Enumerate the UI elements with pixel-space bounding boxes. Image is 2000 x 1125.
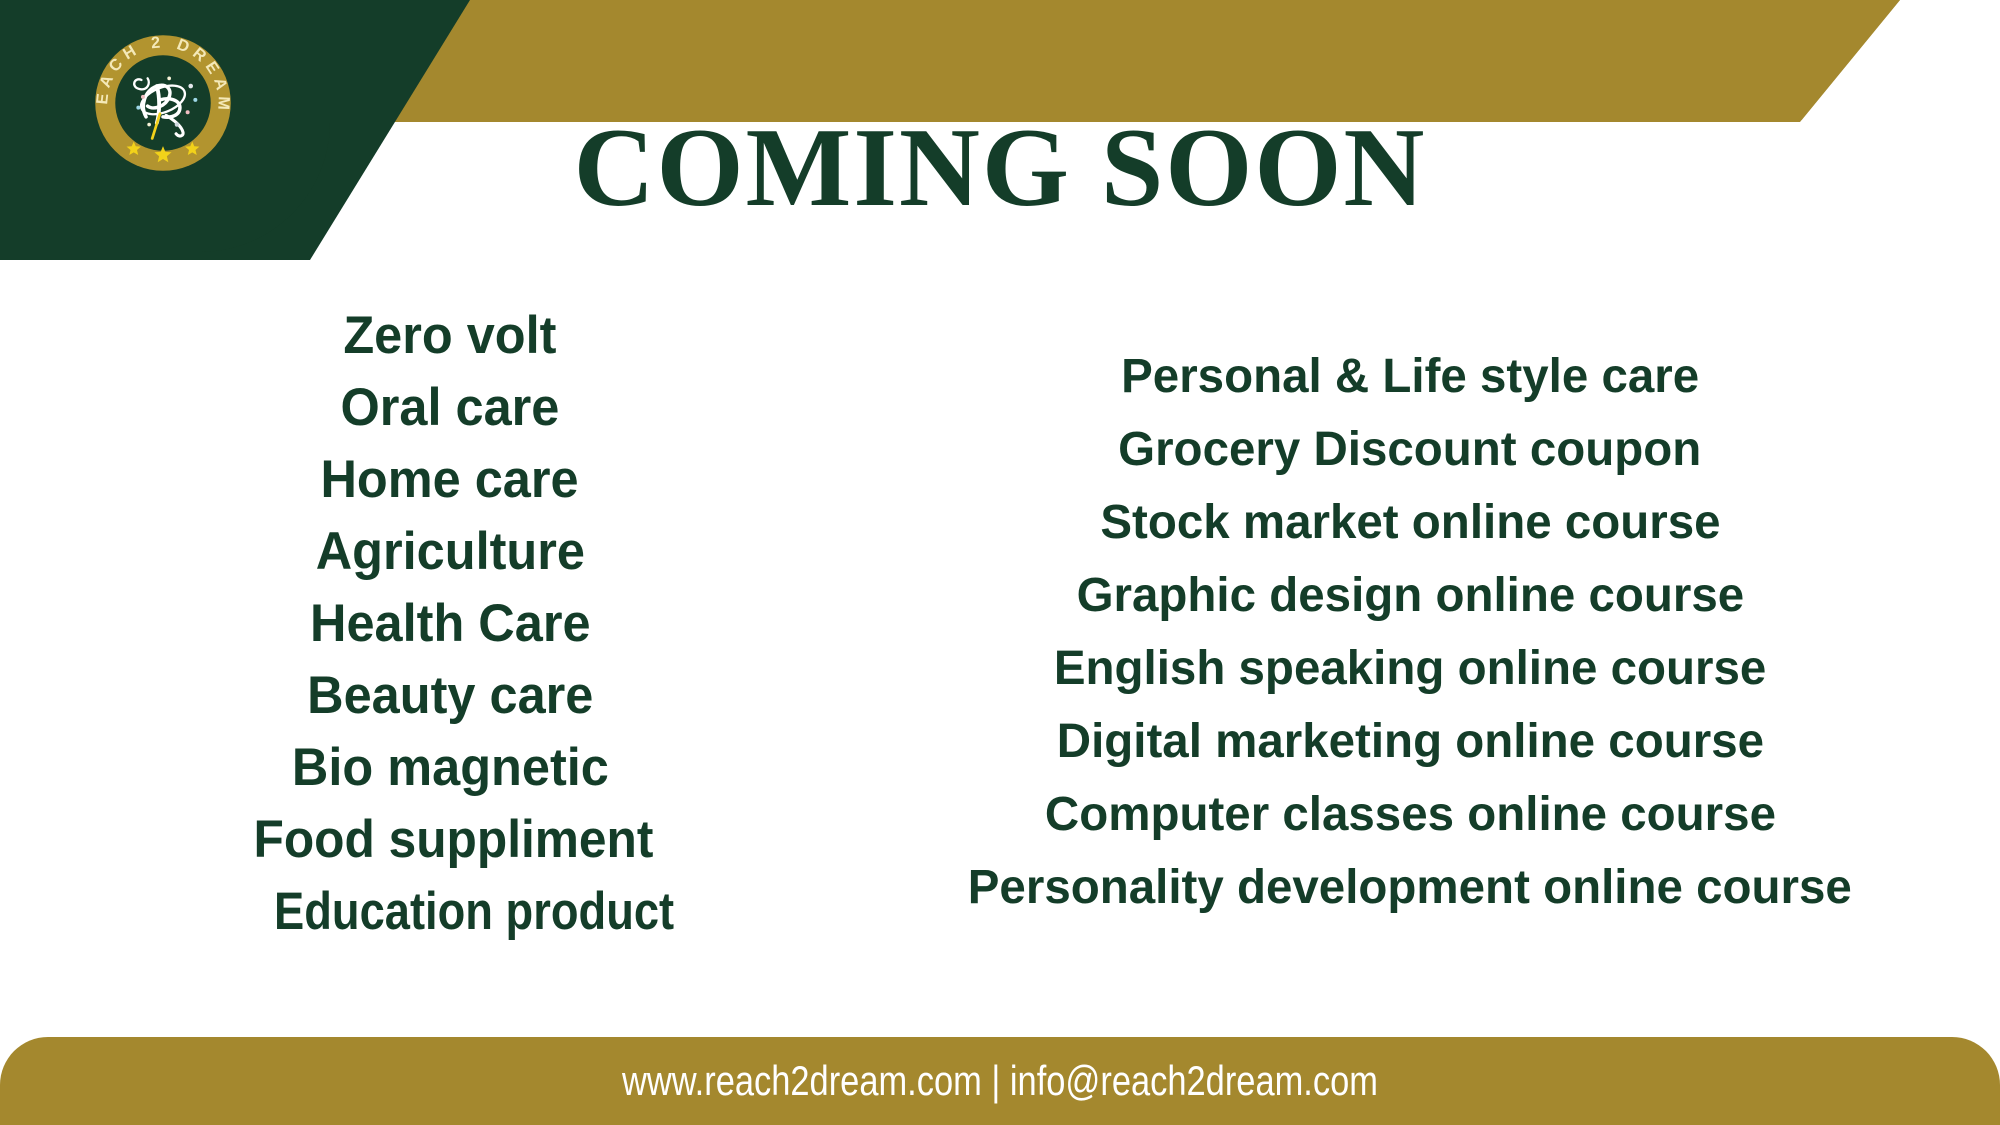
list-item: Personality development online course <box>968 851 1852 924</box>
list-item: Agriculture <box>315 516 584 588</box>
footer-contact-text[interactable]: www.reach2dream.com | info@reach2dream.c… <box>622 1057 1378 1105</box>
list-item: Bio magnetic <box>292 732 609 804</box>
list-item: Zero volt <box>343 300 556 372</box>
page-title: COMING SOON <box>300 112 1700 224</box>
list-item: Beauty care <box>307 660 593 732</box>
list-item: Health Care <box>310 588 591 660</box>
list-item: Education product <box>274 876 674 948</box>
list-item: Oral care <box>341 372 560 444</box>
left-product-list: Zero volt Oral care Home care Agricultur… <box>240 300 660 948</box>
content-columns: Zero volt Oral care Home care Agricultur… <box>0 290 2000 970</box>
list-item: Digital marketing online course <box>1056 705 1763 778</box>
list-item: English speaking online course <box>1054 632 1767 705</box>
list-item: Home care <box>321 444 579 516</box>
list-item: Graphic design online course <box>1076 559 1744 632</box>
footer-bar: www.reach2dream.com | info@reach2dream.c… <box>0 1037 2000 1125</box>
brand-logo: REACH 2 DREAM <box>86 26 240 180</box>
slide-canvas: REACH 2 DREAM <box>0 0 2000 1125</box>
list-item: Food suppliment <box>253 804 653 876</box>
list-item: Computer classes online course <box>1044 778 1775 851</box>
list-item: Personal & Life style care <box>1121 340 1699 413</box>
right-service-list: Personal & Life style care Grocery Disco… <box>940 340 1880 924</box>
list-item: Grocery Discount coupon <box>1118 413 1701 486</box>
list-item: Stock market online course <box>1100 486 1720 559</box>
